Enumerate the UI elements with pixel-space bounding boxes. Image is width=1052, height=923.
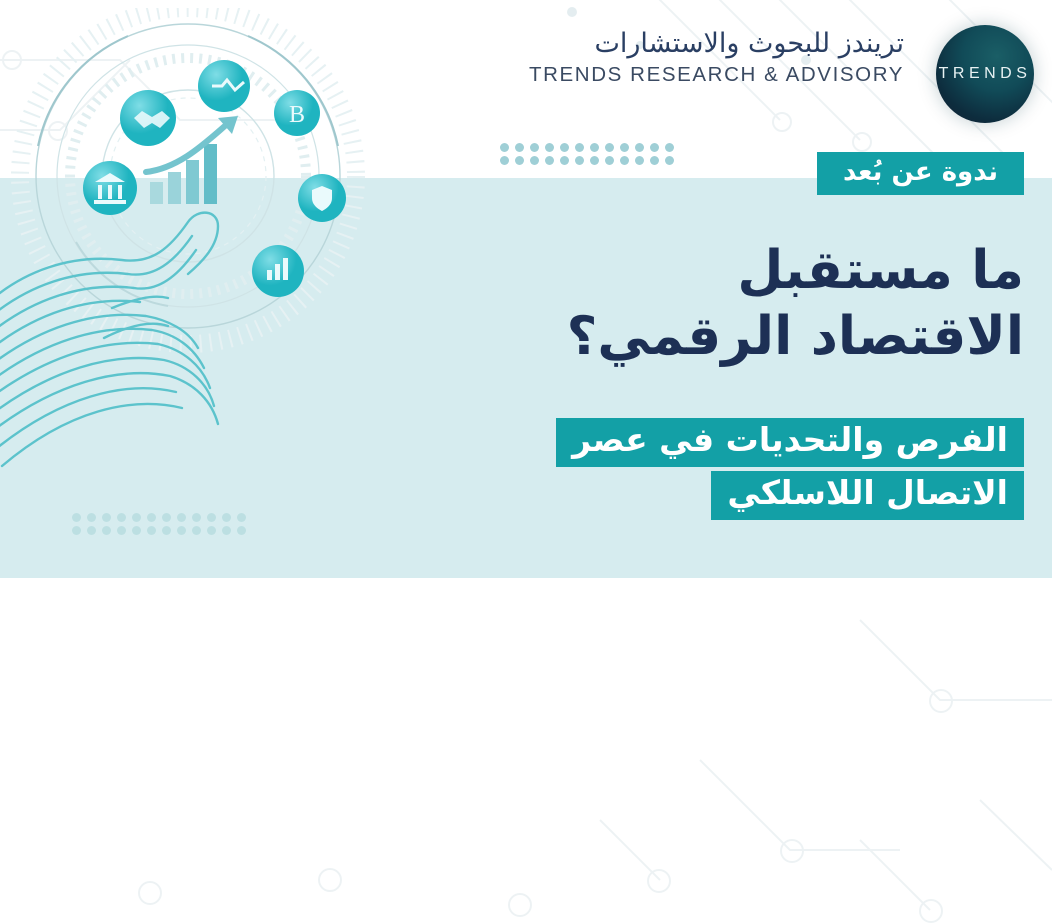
event-poster: B [0,0,1052,923]
bitcoin-icon: B [274,90,320,136]
shield-check-icon [298,174,346,222]
background-band-bottom [0,578,1052,923]
svg-text:B: B [289,102,305,128]
handshake-icon [120,90,176,146]
digital-economy-illustration: B [0,8,372,478]
dot-grid-top [500,143,680,169]
trends-logo-text: TRENDS [939,65,1032,83]
fingerprint-hand-icon [0,213,218,466]
bank-icon [83,161,137,215]
circuit-chip-icon [198,60,250,112]
event-subtitle: الفرص والتحديات في عصر الاتصال اللاسلكي [404,418,1024,524]
brand-name-arabic: تريندز للبحوث والاستشارات [529,28,904,59]
event-subtitle-line1: الفرص والتحديات في عصر [556,418,1024,467]
webinar-badge: ندوة عن بُعد [817,152,1024,195]
event-subtitle-line2: الاتصال اللاسلكي [711,471,1024,520]
dot-grid-left [72,513,252,535]
brand-lockup: تريندز للبحوث والاستشارات TRENDS RESEARC… [529,28,904,87]
brand-name-english: TRENDS RESEARCH & ADVISORY [529,63,904,87]
event-title-line1: ما مستقبل [404,238,1024,304]
event-title: ما مستقبل الاقتصاد الرقمي؟ [404,238,1024,369]
bar-chart-icon [252,245,304,297]
event-title-line2: الاقتصاد الرقمي؟ [404,304,1024,370]
trends-logo: TRENDS [936,25,1034,123]
